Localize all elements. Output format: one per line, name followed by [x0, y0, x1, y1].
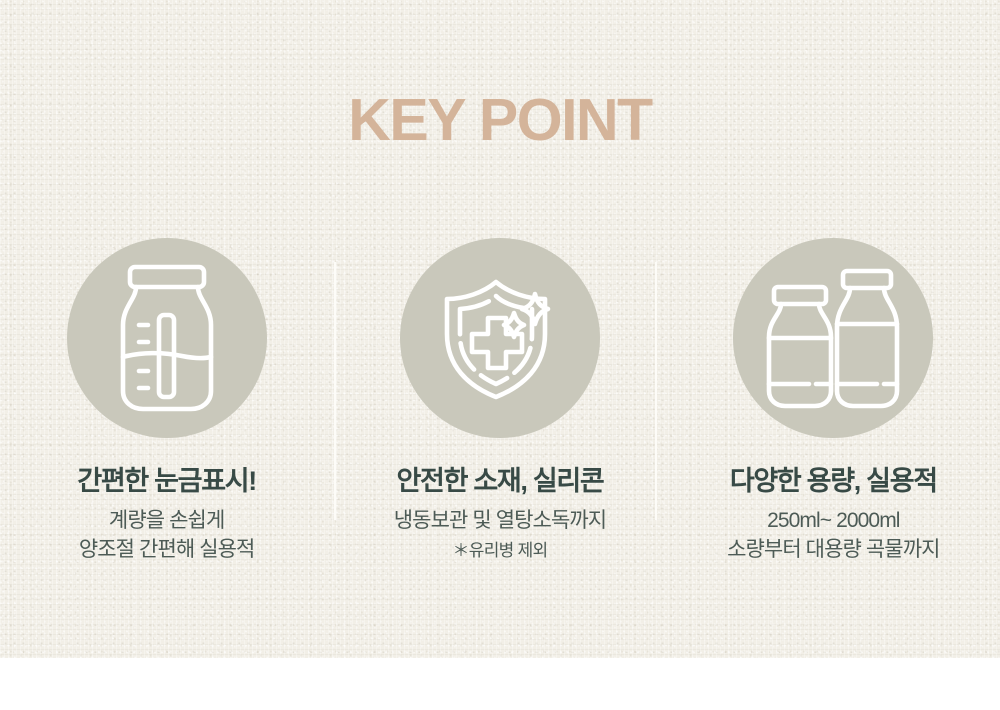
icon-badge-3: [733, 238, 933, 438]
feature-body-line1-2: 냉동보관 및 열탕소독까지: [394, 506, 607, 535]
feature-body-line2-1: 양조절 간편해 실용적: [79, 535, 255, 564]
two-bottles-icon: [765, 267, 901, 409]
shield-cross-sparkle-icon: [434, 272, 566, 404]
feature-column-2: 안전한 소재, 실리콘 냉동보관 및 열탕소독까지 ＊유리병 제외: [333, 238, 666, 564]
feature-note-2: ＊유리병 제외: [452, 539, 547, 563]
feature-body-line1-1: 계량을 손쉽게: [109, 506, 224, 535]
feature-heading-3: 다양한 용량, 실용적: [730, 464, 937, 498]
page-title: KEY POINT: [0, 86, 1000, 154]
infographic-panel: KEY POINT: [0, 0, 1000, 658]
feature-column-1: 간편한 눈금표시! 계량을 손쉽게 양조절 간편해 실용적: [0, 238, 333, 564]
feature-body-line1-3: 250ml~ 2000ml: [767, 506, 899, 535]
icon-badge-2: [400, 238, 600, 438]
feature-body-line2-3: 소량부터 대용량 곡물까지: [727, 535, 940, 564]
feature-column-3: 다양한 용량, 실용적 250ml~ 2000ml 소량부터 대용량 곡물까지: [667, 238, 1000, 564]
measuring-jar-icon: [109, 263, 225, 413]
feature-columns: 간편한 눈금표시! 계량을 손쉽게 양조절 간편해 실용적: [0, 238, 1000, 564]
icon-badge-1: [67, 238, 267, 438]
feature-heading-1: 간편한 눈금표시!: [77, 464, 256, 498]
feature-heading-2: 안전한 소재, 실리콘: [397, 464, 604, 498]
